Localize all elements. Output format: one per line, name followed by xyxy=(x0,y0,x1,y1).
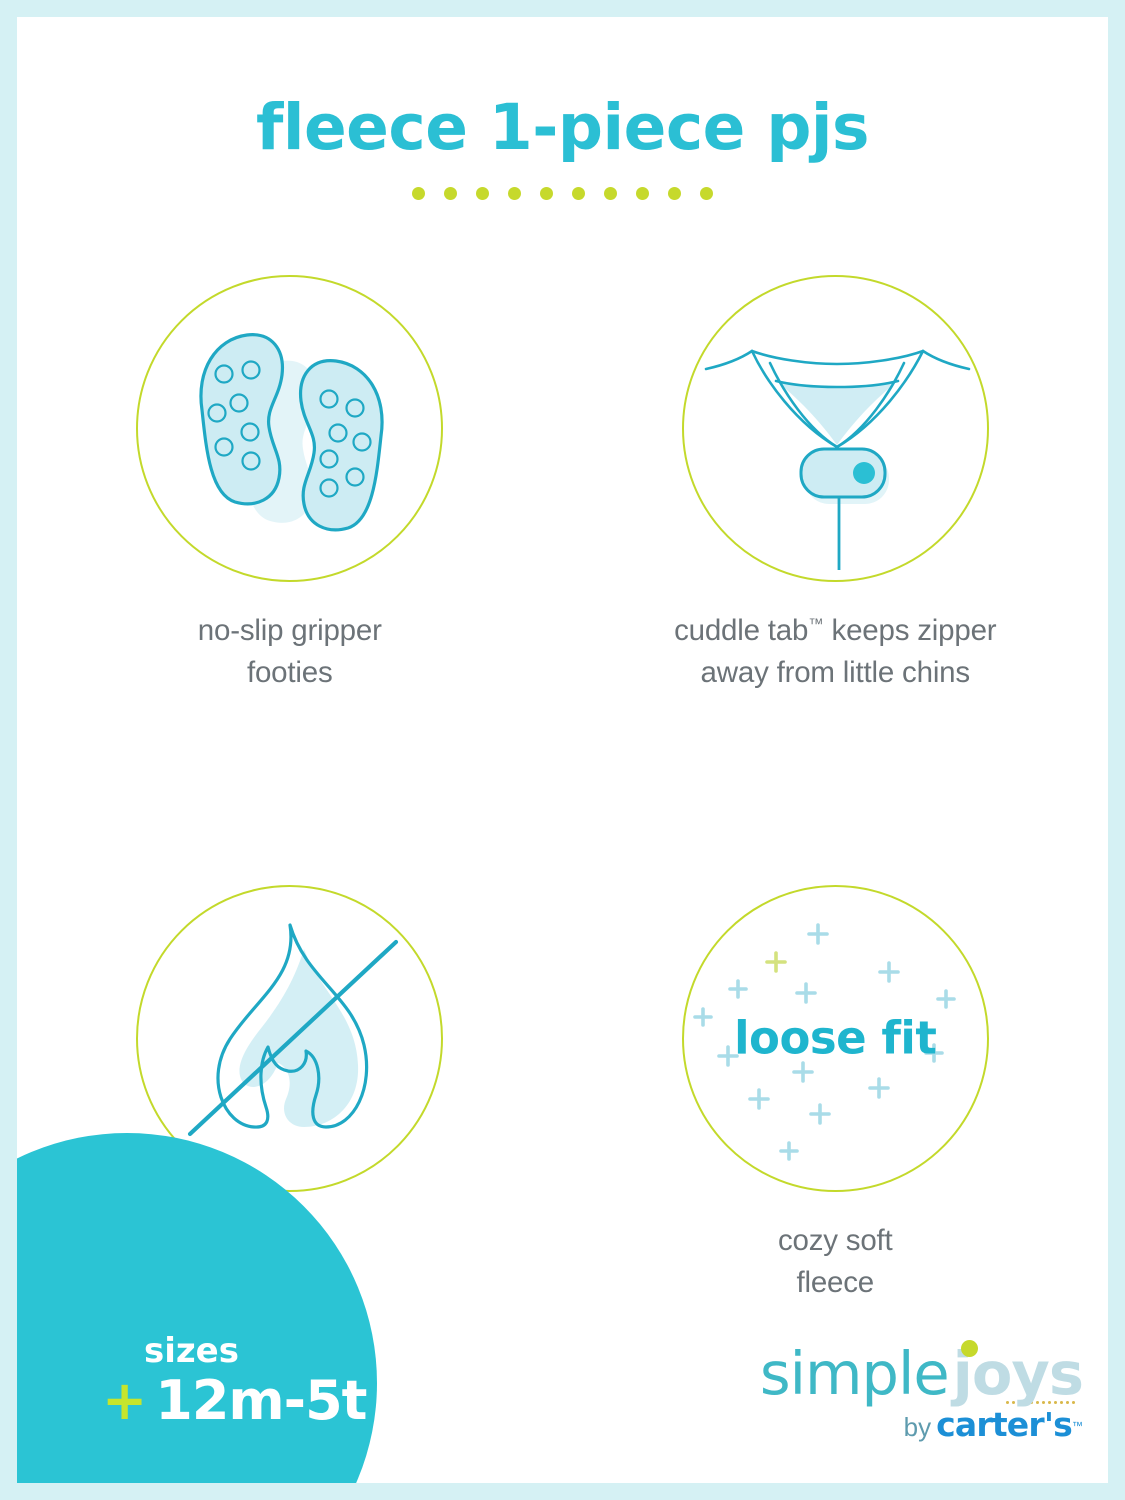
trademark-symbol: ™ xyxy=(808,616,823,633)
feature-caption: cuddle tab™ keeps zipper away from littl… xyxy=(674,610,996,695)
caption-line: cuddle tab™ keeps zipper xyxy=(674,610,996,652)
divider-dot xyxy=(572,187,585,200)
loose-fit-badge-text: loose fit xyxy=(684,1012,987,1065)
header-block: fleece 1-piece pjs xyxy=(17,95,1108,200)
divider-dot xyxy=(540,187,553,200)
sparkle xyxy=(767,953,785,971)
zipper-pull-dot xyxy=(853,462,875,484)
sparkle xyxy=(781,1143,797,1159)
divider-dot xyxy=(604,187,617,200)
caption-text: cuddle tab xyxy=(674,614,808,647)
cuddle-tab-circle xyxy=(682,275,989,582)
logo-trademark-symbol: ™ xyxy=(1072,1421,1083,1433)
page-title: fleece 1-piece pjs xyxy=(17,95,1108,161)
caption-line: footies xyxy=(198,652,382,694)
caption-line: cozy soft xyxy=(778,1220,893,1262)
logo-by-text: by xyxy=(904,1412,931,1442)
left-foot-shape xyxy=(201,335,282,504)
caption-line: no-slip gripper xyxy=(198,610,382,652)
flame-fill xyxy=(240,949,359,1127)
feature-cozy-soft-fleece: loose fit cozy soft fleece xyxy=(563,885,1109,1305)
feature-row-1: no-slip gripper footies xyxy=(17,275,1108,695)
sparkle xyxy=(794,1063,812,1081)
logo-byline: bycarter's™ xyxy=(760,1408,1083,1441)
row-spacer xyxy=(17,695,1108,885)
sparkle xyxy=(811,1105,829,1123)
feature-gripper-footies: no-slip gripper footies xyxy=(17,275,563,695)
dot-divider xyxy=(17,187,1108,200)
divider-dot xyxy=(476,187,489,200)
sizes-value: 12m-5t xyxy=(155,1374,366,1428)
logo-wordmark: simplejoys xyxy=(760,1344,1083,1403)
feature-cuddle-tab: cuddle tab™ keeps zipper away from littl… xyxy=(563,275,1109,695)
divider-dot xyxy=(636,187,649,200)
sparkle xyxy=(870,1079,888,1097)
sparkle xyxy=(730,981,746,997)
joy-dot-icon xyxy=(961,1340,978,1357)
sparkle xyxy=(797,984,815,1002)
feature-caption: cozy soft fleece xyxy=(778,1220,893,1305)
sizes-badge: sizes + 12m-5t xyxy=(102,1334,366,1428)
sparkle xyxy=(880,963,898,981)
divider-dot xyxy=(412,187,425,200)
divider-dot xyxy=(668,187,681,200)
divider-dot xyxy=(700,187,713,200)
cuddle-tab-collar-icon xyxy=(684,277,991,584)
sizes-value-row: + 12m-5t xyxy=(102,1374,366,1428)
caption-line: fleece xyxy=(778,1262,893,1304)
sparkle xyxy=(938,991,954,1007)
sparkle xyxy=(809,925,827,943)
sizes-label: sizes xyxy=(144,1334,366,1368)
poster-canvas: fleece 1-piece pjs xyxy=(17,17,1108,1483)
gripper-footies-icon xyxy=(138,277,445,584)
logo-brand-text: carter's xyxy=(936,1405,1072,1444)
brand-logo: simplejoys bycarter's™ xyxy=(760,1344,1083,1441)
caption-text: keeps zipper xyxy=(824,614,997,647)
plus-icon: + xyxy=(102,1374,147,1428)
logo-joys-wrap: joys xyxy=(949,1344,1083,1403)
caption-line: away from little chins xyxy=(674,652,996,694)
loose-fit-circle: loose fit xyxy=(682,885,989,1192)
logo-word-simple: simple xyxy=(760,1339,949,1408)
product-infographic-poster: fleece 1-piece pjs xyxy=(0,0,1125,1500)
gripper-footies-circle xyxy=(136,275,443,582)
divider-dot xyxy=(508,187,521,200)
feature-caption: no-slip gripper footies xyxy=(198,610,382,695)
sparkle xyxy=(750,1090,768,1108)
divider-dot xyxy=(444,187,457,200)
